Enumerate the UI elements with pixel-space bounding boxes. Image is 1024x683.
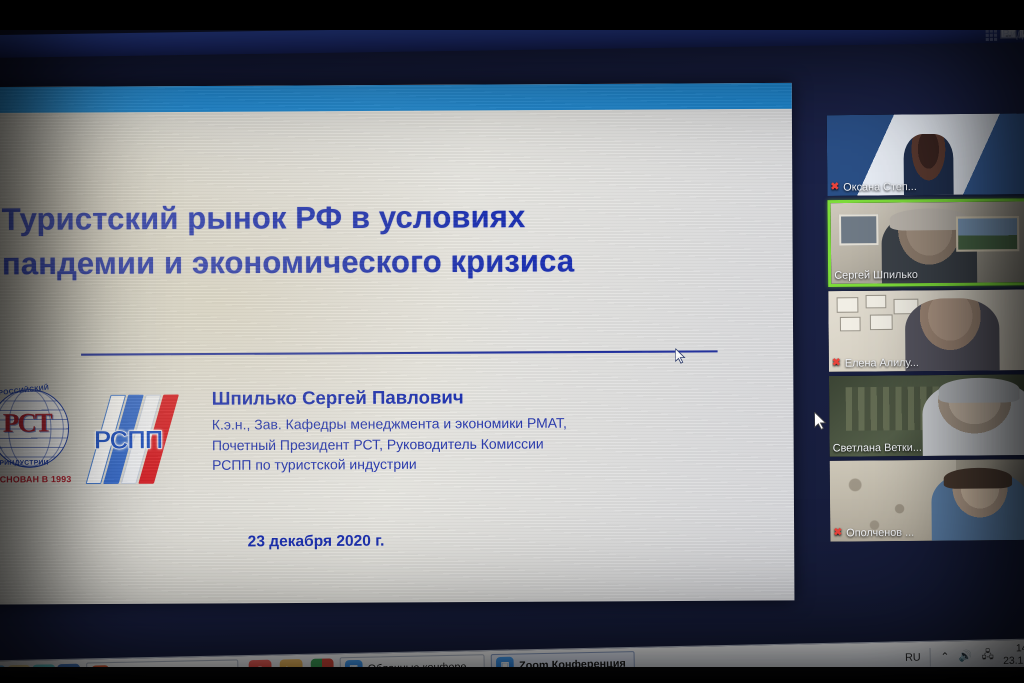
participant-label: ✖ Оксана Степ...: [830, 181, 916, 194]
shared-slide[interactable]: Туристский рынок РФ в условиях пандемии …: [0, 83, 794, 605]
monitor-bezel-top: [0, 0, 1024, 30]
presenter-desc-line2: Почетный Президент РСТ, Руководитель Ком…: [212, 433, 678, 456]
participant-label: ✖ Ополченов ...: [833, 526, 914, 539]
presenter-desc-line1: К.э.н., Зав. Кафедры менеджмента и эконо…: [212, 413, 678, 436]
network-icon[interactable]: 🖧: [981, 646, 994, 665]
participant-tile[interactable]: ✖ Елена Алилу...: [828, 289, 1024, 371]
rst-founded-text: ОСНОВАН В 1993: [0, 474, 84, 485]
clock[interactable]: 14:14 23.12.2020: [1003, 642, 1024, 667]
slide-canvas: Туристский рынок РФ в условиях пандемии …: [0, 83, 794, 605]
participant-name: Оксана Степ...: [843, 181, 917, 194]
participant-label: Светлана Ветки...: [833, 441, 922, 454]
rst-ring-text: РОССИЙСКИЙ СОЮЗ ТУРИНДУСТРИИ: [0, 387, 82, 472]
slide-title-line2: пандемии и экономического кризиса: [2, 239, 665, 287]
clock-time: 14:14: [1003, 642, 1024, 655]
participant-label: ✖ Елена Алилу...: [832, 357, 919, 370]
grid-icon: [986, 29, 998, 41]
system-tray: RU ⌃ 🔊 🖧 14:14 23.12.2020: [905, 642, 1024, 670]
rst-ring-bottom: ТУРИНДУСТРИИ: [0, 459, 49, 467]
rst-logo: РСТ РОССИЙСКИЙ СОЮЗ ТУРИНДУСТРИИ ОСНОВАН…: [0, 387, 82, 501]
clock-date: 23.12.2020: [1003, 654, 1024, 667]
participant-name: Сергей Шпилько: [834, 269, 918, 282]
rst-ring-top: РОССИЙСКИЙ: [0, 384, 49, 397]
participant-label: Сергей Шпилько: [834, 269, 918, 282]
participant-tile-active[interactable]: Сергей Шпилько: [827, 198, 1024, 287]
monitor-photo: ция _ ❐ ✕ Вид Туристский рынок РФ в усло…: [0, 0, 1024, 683]
volume-icon[interactable]: 🔊: [959, 649, 973, 663]
presenter-description: К.э.н., Зав. Кафедры менеджмента и эконо…: [212, 413, 678, 476]
participant-name: Елена Алилу...: [845, 357, 919, 370]
slide-divider: [81, 350, 718, 355]
slide-top-band: [0, 83, 792, 113]
screen-glare: [0, 83, 794, 605]
slide-date: 23 декабря 2020 г.: [248, 532, 385, 550]
presenter-name: Шпилько Сергей Павлович: [212, 387, 464, 410]
participant-name: Светлана Ветки...: [833, 441, 922, 454]
rspp-logo: РСПП: [87, 392, 183, 488]
mute-icon: ✖: [833, 528, 842, 538]
screen-moire: [0, 83, 794, 605]
mute-icon: ✖: [832, 358, 841, 368]
presenter-desc-line3: РСПП по туристской индустрии: [212, 453, 678, 476]
rspp-letters: РСПП: [94, 426, 163, 456]
language-indicator[interactable]: RU: [905, 651, 921, 664]
slide-title: Туристский рынок РФ в условиях пандемии …: [2, 195, 665, 287]
monitor-bezel-bottom: [0, 667, 1024, 683]
slide-title-line1: Туристский рынок РФ в условиях: [2, 195, 665, 243]
participant-strip: ✖ Оксана Степ... Сергей Шпилько: [827, 113, 1024, 541]
screen-content: ция _ ❐ ✕ Вид Туристский рынок РФ в усло…: [0, 0, 1024, 683]
participant-tile[interactable]: ✖ Оксана Степ...: [827, 113, 1024, 195]
participant-tile[interactable]: ✖ Ополченов ...: [830, 459, 1024, 541]
participant-tile[interactable]: Светлана Ветки...: [829, 374, 1024, 456]
show-hidden-icons-icon[interactable]: ⌃: [940, 650, 949, 663]
mute-icon: ✖: [830, 182, 839, 192]
mouse-cursor-desktop: [814, 412, 828, 432]
participant-name: Ополченов ...: [846, 526, 914, 539]
